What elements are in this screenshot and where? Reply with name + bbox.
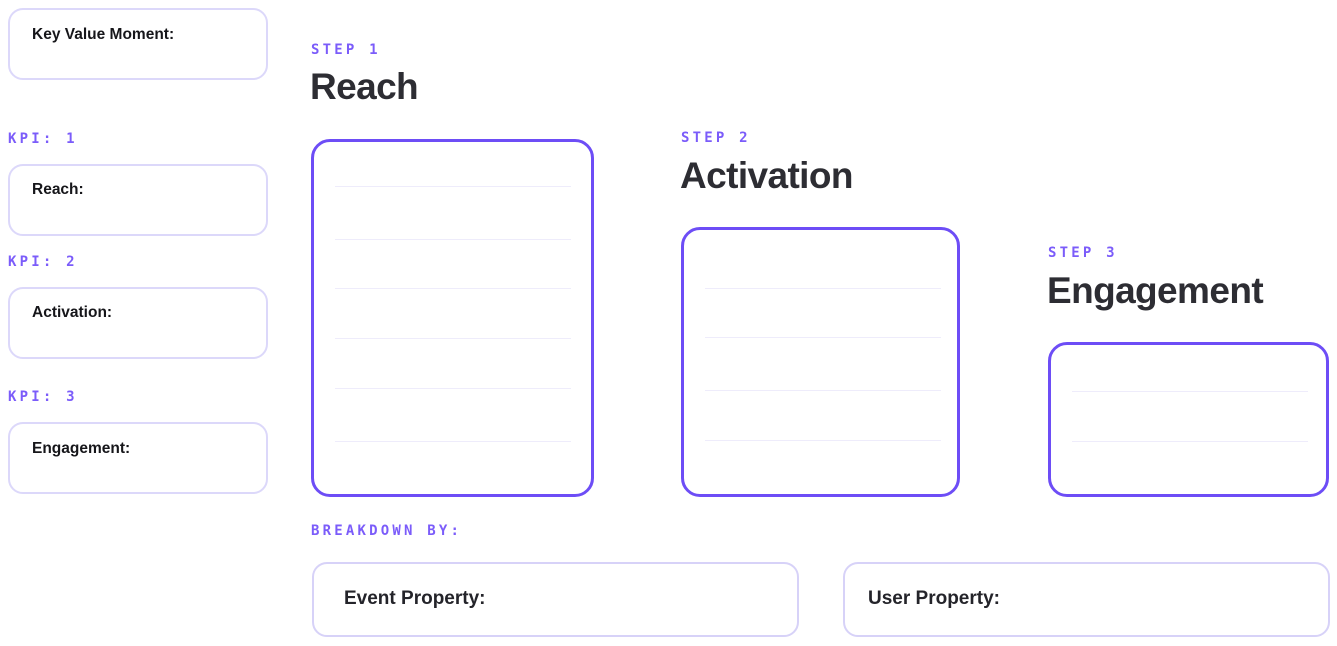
note-rule [335, 288, 571, 289]
step-1-title: Reach [310, 68, 418, 105]
kpi-2-label: Activation: [32, 304, 112, 322]
key-value-moment-label: Key Value Moment: [32, 26, 174, 44]
kpi-2-card[interactable]: Activation: [8, 287, 268, 359]
note-rule [335, 239, 571, 240]
step-2-notes-card[interactable] [681, 227, 960, 497]
note-rule [335, 186, 571, 187]
kpi-2-eyebrow: KPI: 2 [8, 255, 78, 269]
note-rule [335, 441, 571, 442]
note-rule [335, 338, 571, 339]
step-1-notes-card[interactable] [311, 139, 594, 497]
note-rule [705, 440, 941, 441]
note-rule [705, 288, 941, 289]
user-property-label: User Property: [868, 588, 1000, 610]
step-2-eyebrow: STEP 2 [681, 131, 751, 145]
kpi-1-eyebrow: KPI: 1 [8, 132, 78, 146]
key-value-moment-card[interactable]: Key Value Moment: [8, 8, 268, 80]
worksheet-canvas: Key Value Moment: KPI: 1 Reach: KPI: 2 A… [0, 0, 1337, 646]
step-1-eyebrow: STEP 1 [311, 43, 381, 57]
note-rule [705, 390, 941, 391]
note-rule [1072, 441, 1308, 442]
event-property-label: Event Property: [344, 588, 485, 610]
kpi-1-label: Reach: [32, 181, 84, 199]
step-3-notes-card[interactable] [1048, 342, 1329, 497]
step-2-title: Activation [680, 157, 853, 194]
note-rule [705, 337, 941, 338]
kpi-3-card[interactable]: Engagement: [8, 422, 268, 494]
note-rule [335, 388, 571, 389]
user-property-card[interactable]: User Property: [843, 562, 1330, 637]
step-3-title: Engagement [1047, 272, 1263, 309]
breakdown-eyebrow: BREAKDOWN BY: [311, 524, 462, 538]
note-rule [1072, 391, 1308, 392]
kpi-3-eyebrow: KPI: 3 [8, 390, 78, 404]
event-property-card[interactable]: Event Property: [312, 562, 799, 637]
step-3-eyebrow: STEP 3 [1048, 246, 1118, 260]
kpi-3-label: Engagement: [32, 440, 130, 458]
kpi-1-card[interactable]: Reach: [8, 164, 268, 236]
